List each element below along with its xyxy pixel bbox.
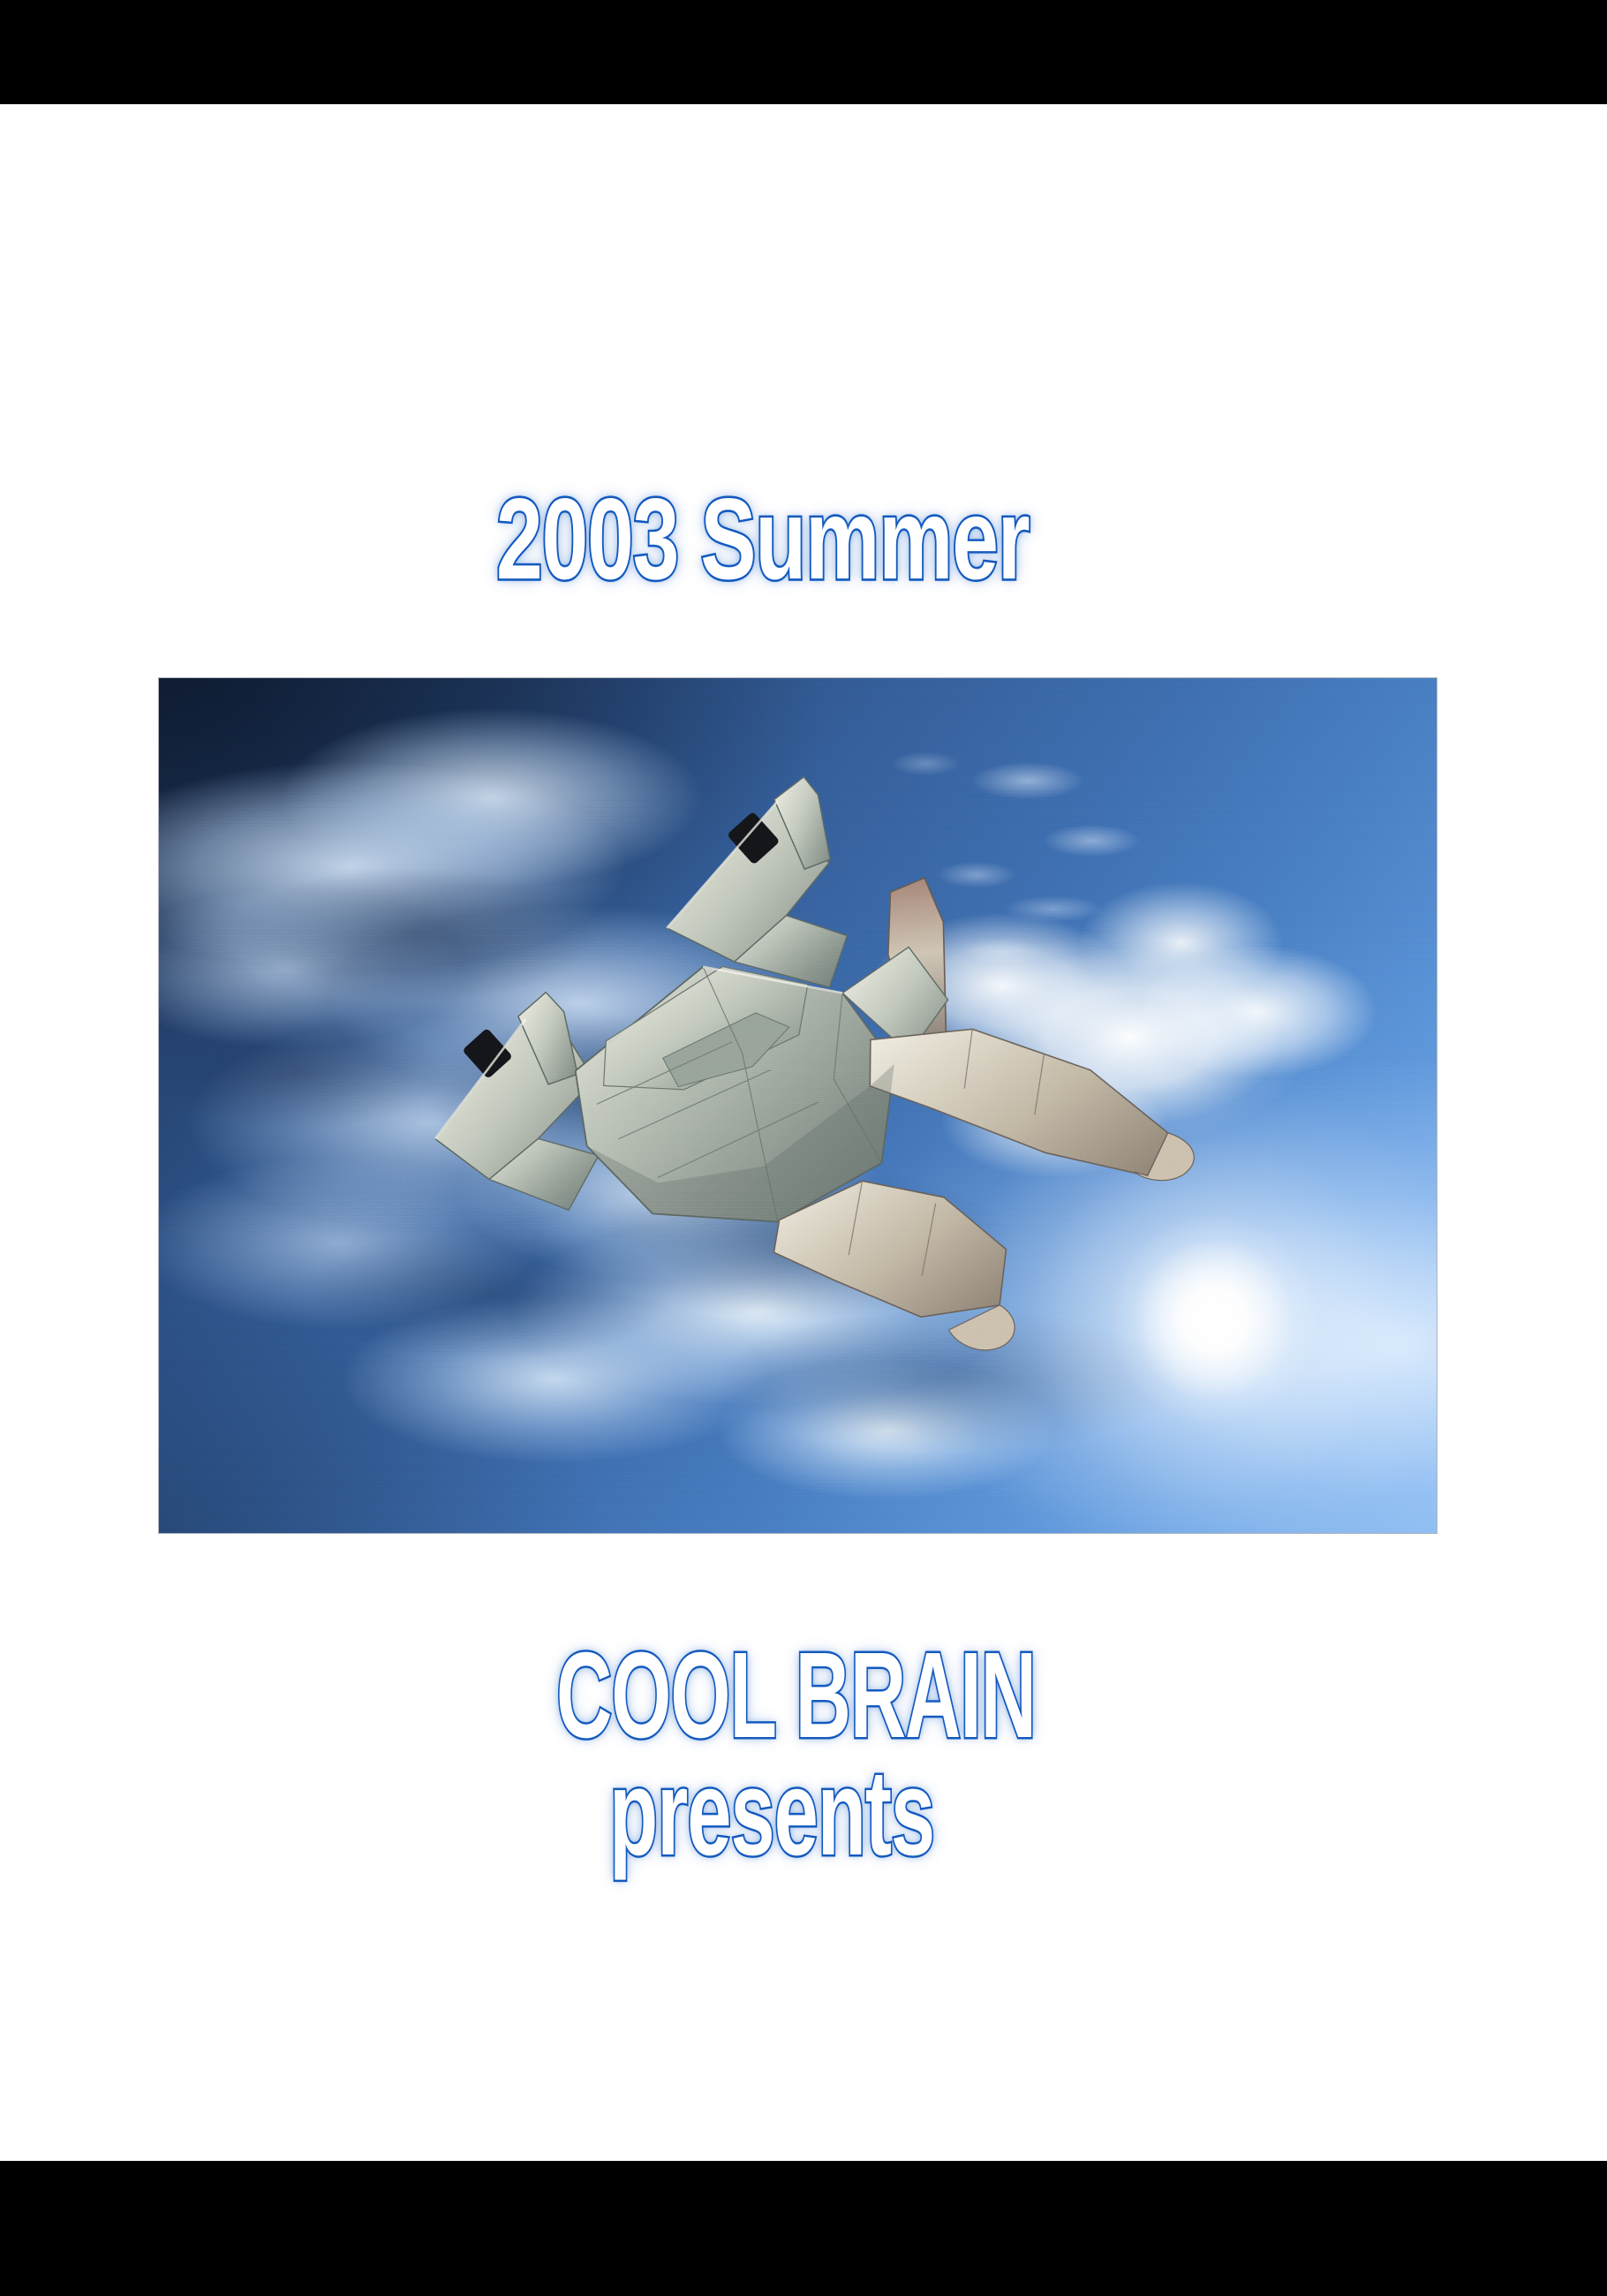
poster-stage: 2003 Summer [0, 0, 1607, 2296]
artwork-photo [159, 678, 1437, 1533]
letterbox-band-bottom [0, 2161, 1607, 2296]
brand-name: COOL BRAIN [556, 1635, 1036, 1756]
page-title: 2003 Summer [496, 482, 1030, 598]
brand-tagline: presents [609, 1752, 934, 1874]
film-grain-layer [159, 678, 1437, 1533]
poster-page: 2003 Summer [0, 104, 1607, 2161]
letterbox-band-top [0, 0, 1607, 104]
